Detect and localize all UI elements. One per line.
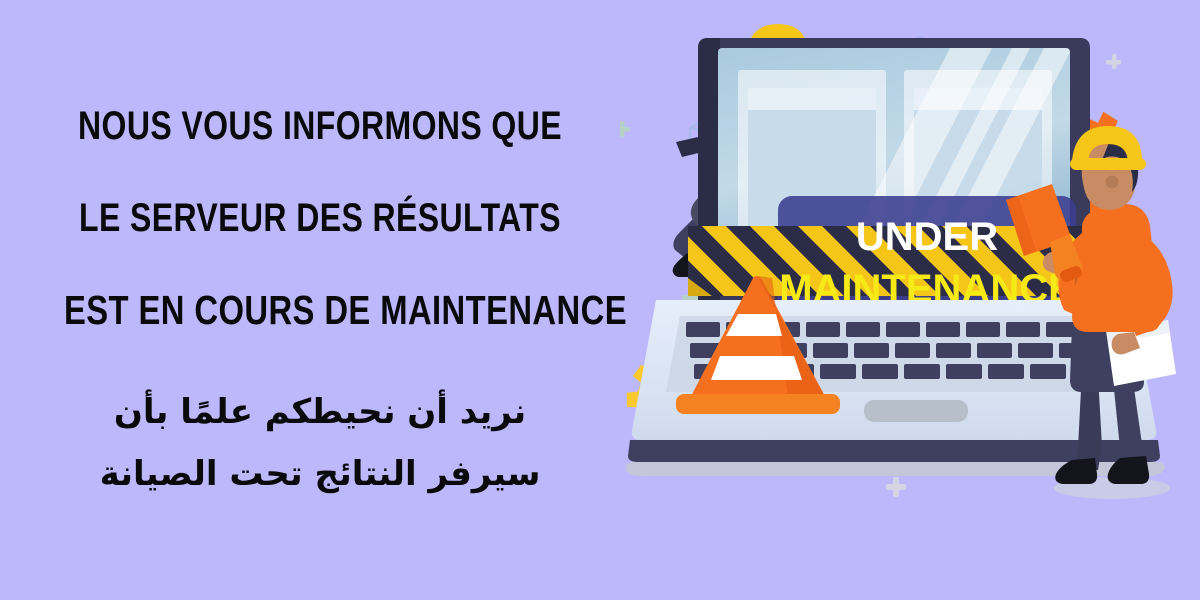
- banner-under-text: UNDER: [856, 215, 998, 259]
- french-notice-line-1: NOUS VOUS INFORMONS QUE: [64, 104, 576, 148]
- notice-text-panel: NOUS VOUS INFORMONS QUE LE SERVEUR DES R…: [0, 0, 640, 600]
- french-notice-line-3: EST EN COURS DE MAINTENANCE: [64, 288, 576, 332]
- maintenance-notice-page: NOUS VOUS INFORMONS QUE LE SERVEUR DES R…: [0, 0, 1200, 600]
- arabic-notice-line-1: نريد أن نحيطكم علمًا بأن: [0, 390, 640, 434]
- french-notice-line-2: LE SERVEUR DES RÉSULTATS: [64, 196, 576, 240]
- maintenance-illustration: UNDER MAINTENANCE: [620, 0, 1200, 600]
- laptop-trackpad: [864, 400, 968, 422]
- arabic-notice-line-2: سيرفر النتائج تحت الصيانة: [0, 452, 640, 496]
